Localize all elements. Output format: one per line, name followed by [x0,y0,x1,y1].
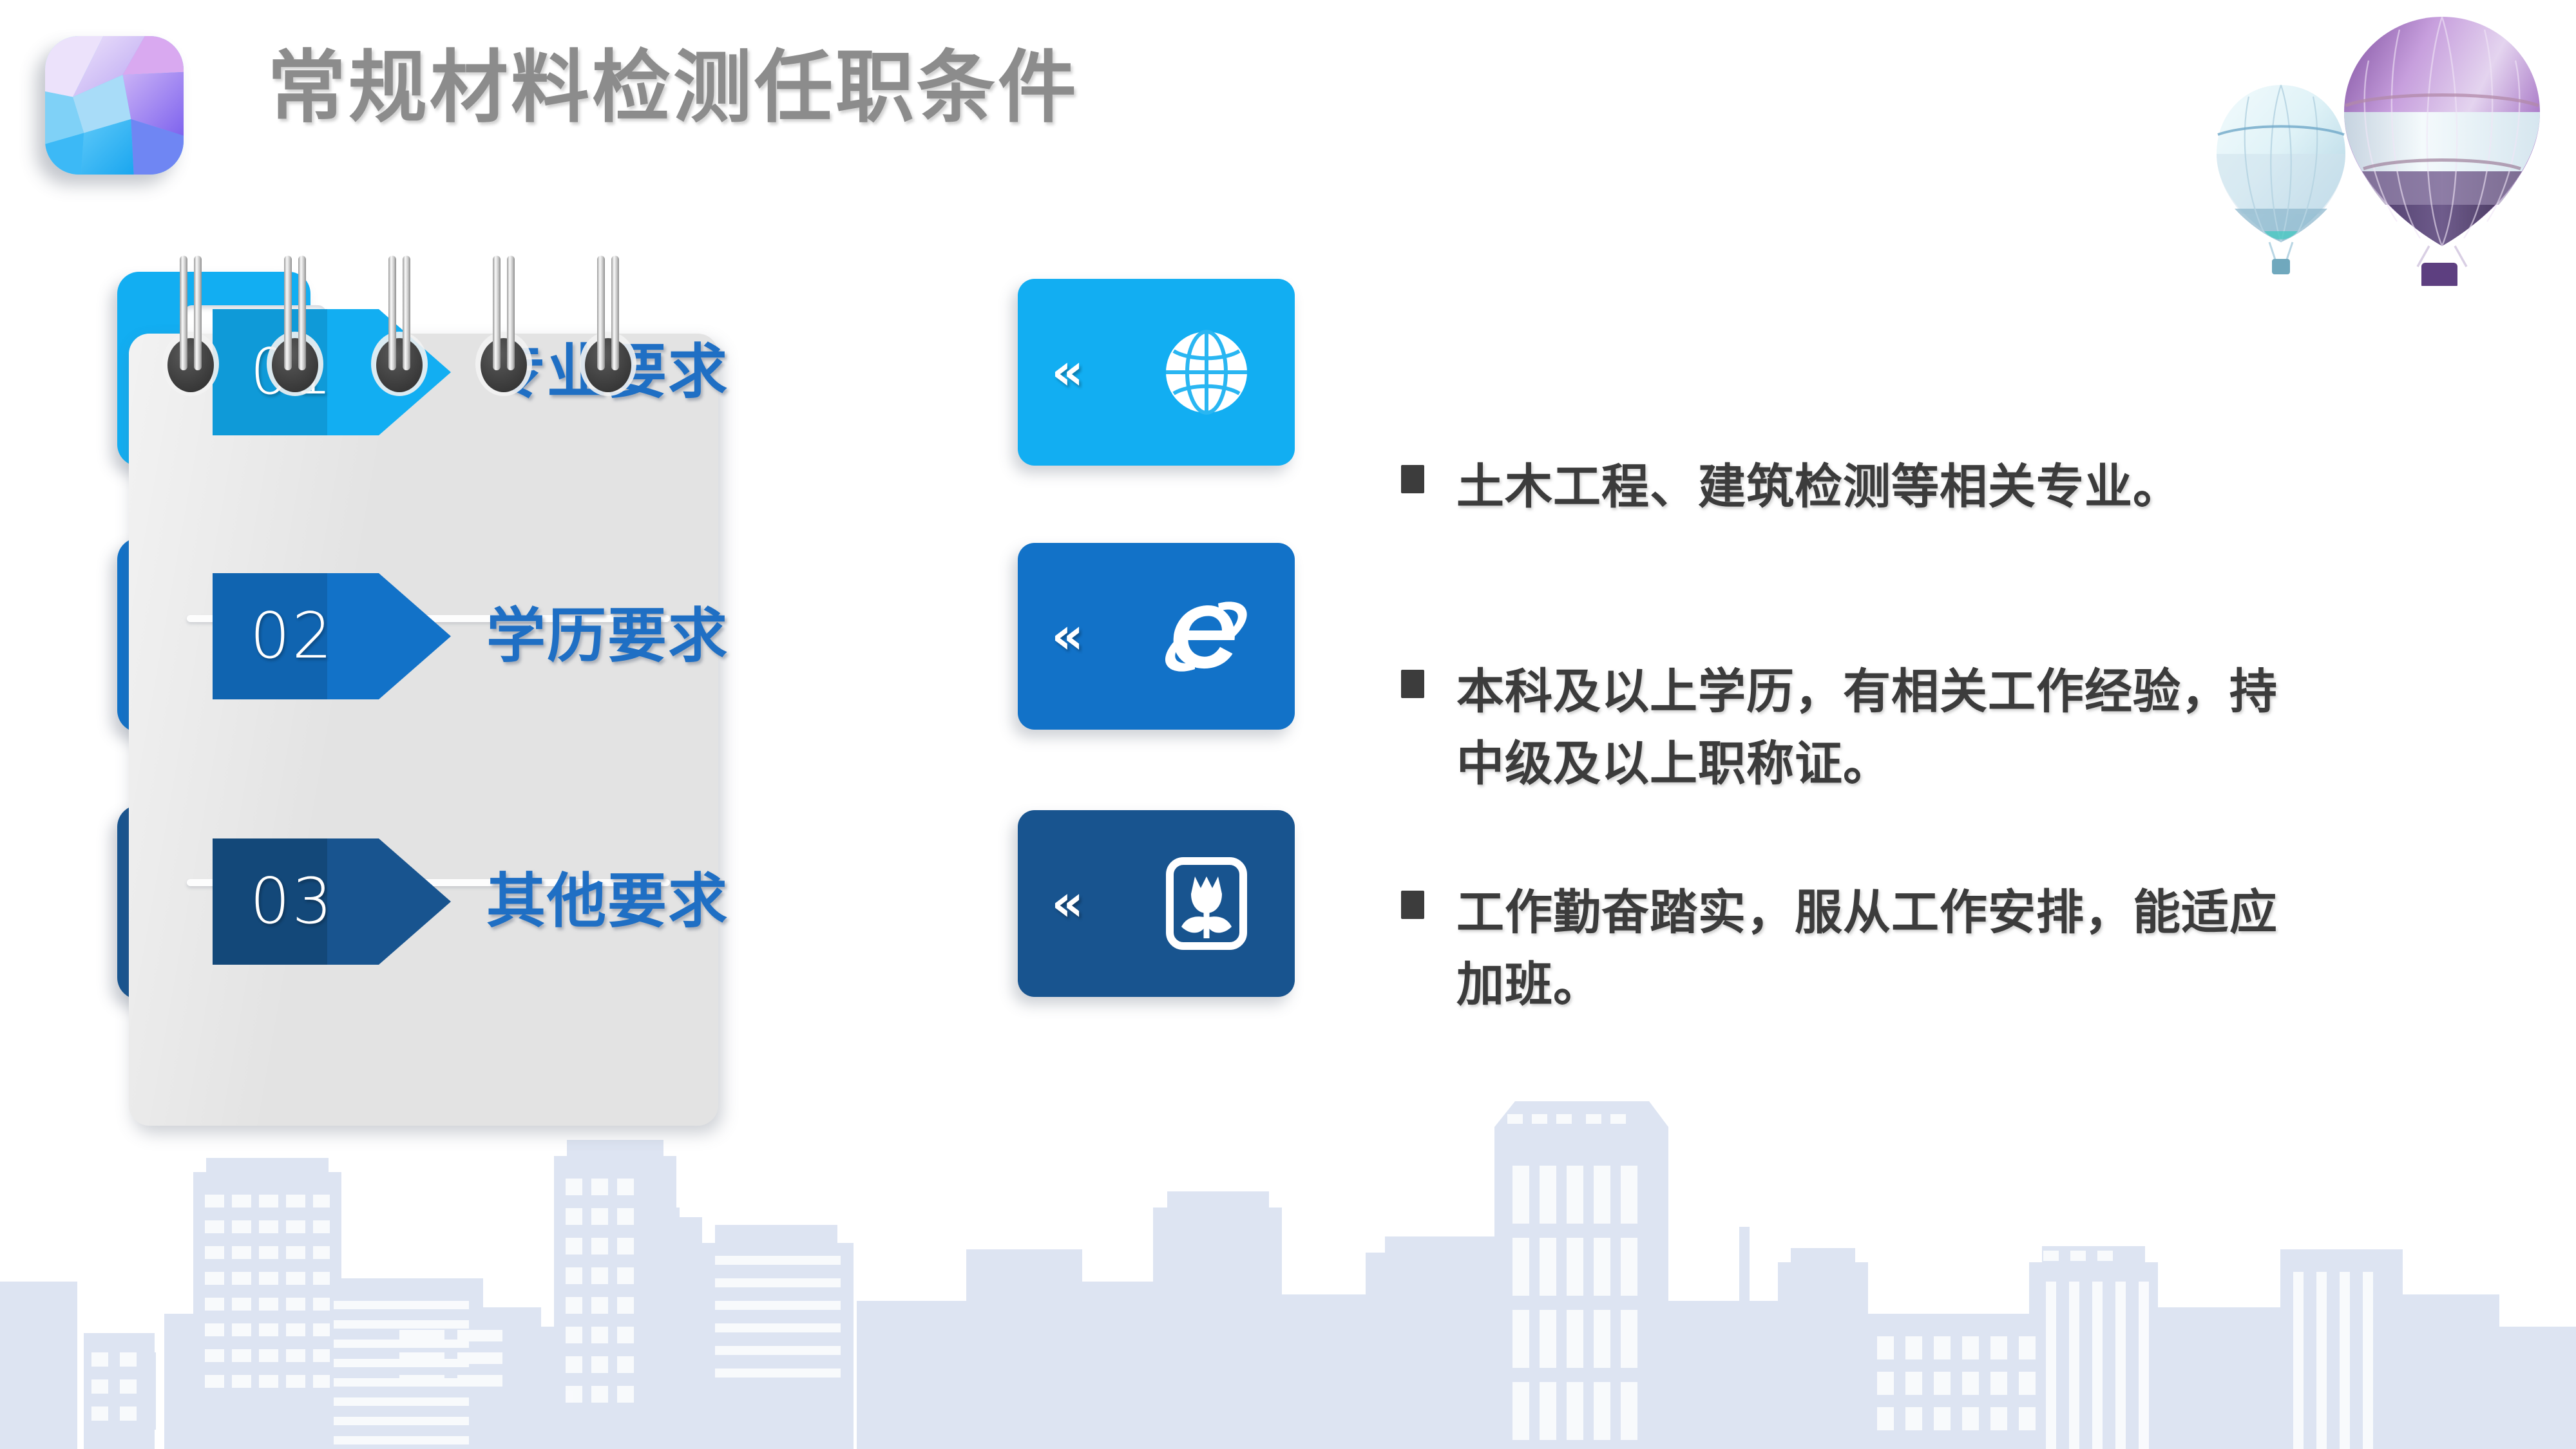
row-tag-03[interactable]: 03 [213,838,451,965]
icon-panel-02[interactable]: « [1018,543,1295,730]
list-item: 本科及以上学历，有相关工作经验，持中级及以上职称证。 [1401,656,2457,800]
list-item-text: 土木工程、建筑检测等相关专业。 [1456,451,2457,523]
row-number: 02 [250,573,334,699]
double-chevron-left-icon: « [1051,611,1083,661]
lowpoly-gem-app-icon [45,36,184,175]
bullet-square-icon [1401,465,1424,493]
row-number: 03 [250,838,334,965]
row-title-03: 其他要求 [486,838,729,965]
list-item: 土木工程、建筑检测等相关专业。 [1401,451,2457,580]
icon-panel-03[interactable]: « [1018,810,1295,997]
globe-icon [1158,324,1255,421]
spiral-binding [129,241,718,409]
double-chevron-left-icon: « [1051,347,1083,397]
page-title: 常规材料检测任职条件 [267,39,1079,137]
slide-root: 常规材料检测任职条件 [0,0,2576,1449]
spiral-rings-icon [129,241,718,409]
list-item: 工作勤奋踏实，服从工作安排，能适应加班。 [1401,876,2457,1021]
list-item-text: 工作勤奋踏实，服从工作安排，能适应加班。 [1456,876,2323,1021]
notepad-card [129,334,718,1126]
card-sheen [129,334,718,1126]
bullet-square-icon [1401,891,1424,919]
icon-panel-01[interactable]: « [1018,279,1295,466]
internet-explorer-icon [1158,588,1255,685]
row-title-02: 学历要求 [486,573,729,699]
requirements-list: 土木工程、建筑检测等相关专业。 本科及以上学历，有相关工作经验，持中级及以上职称… [1401,451,2457,1097]
double-chevron-left-icon: « [1051,878,1083,929]
app-logo [39,31,187,179]
list-item-text: 本科及以上学历，有相关工作经验，持中级及以上职称证。 [1456,656,2281,800]
row-tag-02[interactable]: 02 [213,573,451,699]
header: 常规材料检测任职条件 [0,0,2576,193]
process-diagram: 01 专业要求 02 学历要求 03 其他要求 « [0,277,1353,1204]
tulip-flower-icon [1158,855,1255,952]
bullet-square-icon [1401,670,1424,698]
